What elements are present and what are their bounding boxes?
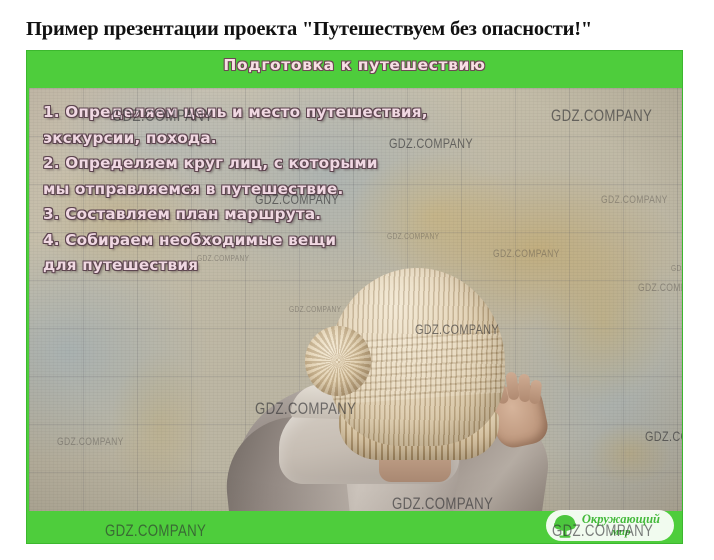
slide-title: Подготовка к путешествию: [27, 56, 682, 74]
brand-line-2: мир: [582, 526, 660, 539]
bullet-line: мы отправляемся в путешествие.: [43, 177, 443, 203]
slide-photo: 1. Определяем цель и место путешествия, …: [29, 88, 682, 513]
bullet-line: 4. Собираем необходимые вещи: [43, 228, 443, 254]
slide-title-bar: Подготовка к путешествию: [27, 51, 682, 88]
slide-footer-bar: Окружающий мир: [27, 511, 682, 543]
bullet-line: 1. Определяем цель и место путешествия,: [43, 100, 443, 126]
brand-logo: Окружающий мир: [546, 510, 674, 541]
brand-line-1: Окружающий: [582, 513, 660, 526]
page-title: Пример презентации проекта "Путешествуем…: [26, 18, 686, 41]
page-root: Пример презентации проекта "Путешествуем…: [0, 0, 714, 560]
bullet-line: 2. Определяем круг лиц, с которыми: [43, 151, 443, 177]
slide-bullet-list: 1. Определяем цель и место путешествия, …: [43, 100, 443, 279]
brand-text: Окружающий мир: [582, 513, 660, 538]
presentation-slide: Подготовка к путешествию: [26, 50, 683, 544]
bullet-line: экскурсии, похода.: [43, 126, 443, 152]
tree-icon: [554, 514, 576, 538]
bullet-line: 3. Составляем план маршрута.: [43, 202, 443, 228]
bullet-line: для путешествия: [43, 253, 443, 279]
